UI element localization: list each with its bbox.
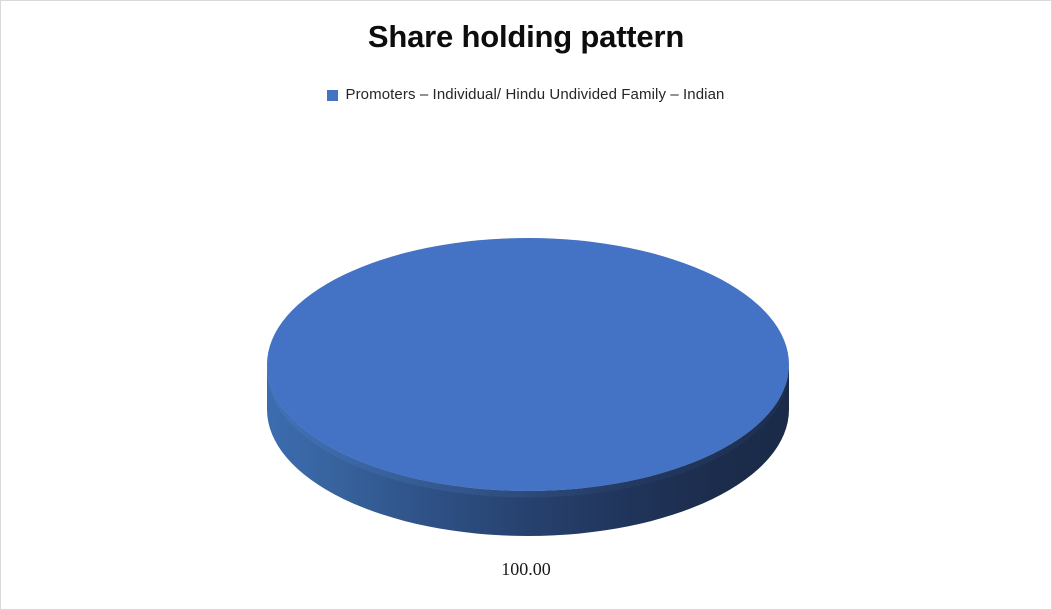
chart-legend: Promoters – Individual/ Hindu Undivided … xyxy=(1,86,1051,103)
chart-title: Share holding pattern xyxy=(1,19,1051,55)
legend-swatch-icon xyxy=(327,90,338,101)
pie-slice-top-promoters xyxy=(267,238,789,491)
legend-item[interactable]: Promoters – Individual/ Hindu Undivided … xyxy=(327,86,724,103)
pie-3d-chart[interactable] xyxy=(267,238,789,546)
plot-area: 100.00 xyxy=(1,151,1051,610)
pie-data-label: 100.00 xyxy=(1,559,1051,580)
legend-item-label: Promoters – Individual/ Hindu Undivided … xyxy=(345,86,724,103)
chart-container: Share holding pattern Promoters – Indivi… xyxy=(0,0,1052,610)
